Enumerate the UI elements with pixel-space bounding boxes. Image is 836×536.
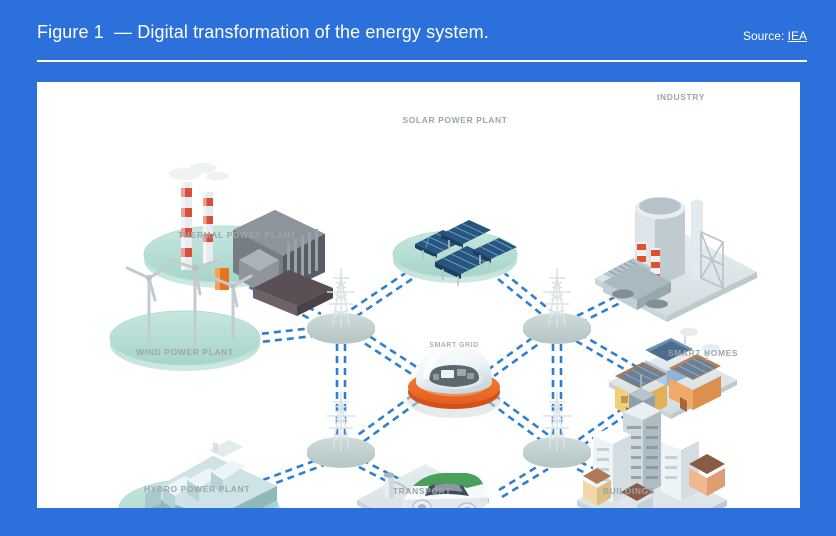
smart-grid-illustration xyxy=(407,346,501,418)
source-link-iea[interactable]: IEA xyxy=(788,29,807,43)
title-dash: — xyxy=(114,22,132,42)
label-solar-power-plant: SOLAR POWER PLANT xyxy=(402,115,507,125)
label-industry: INDUSTRY xyxy=(657,92,705,102)
source-label: Source: xyxy=(743,29,784,43)
label-hydro-power-plant: HYDRO POWER PLANT xyxy=(144,484,250,494)
title-text: Digital transformation of the energy sys… xyxy=(137,22,489,42)
highrise-white-2 xyxy=(661,432,699,501)
figure-canvas: THERMAL POWER PLANT SOLAR POWER PLANT IN… xyxy=(37,82,800,508)
smokestack xyxy=(203,192,213,264)
figure-number: Figure 1 xyxy=(37,22,104,42)
label-transport: TRANSPORT xyxy=(393,486,451,496)
label-buildings: BUILDINGS xyxy=(603,486,655,496)
label-wind-power-plant: WIND POWER PLANT xyxy=(136,347,233,357)
smokestack xyxy=(181,182,192,270)
transmission-tower-top-left-illustration xyxy=(307,268,375,344)
industry-illustration xyxy=(595,196,757,322)
hydro-power-plant-illustration xyxy=(119,440,279,508)
transmission-tower-bottom-right-illustration xyxy=(523,392,591,468)
diagram-svg xyxy=(37,82,800,508)
solar-power-plant-illustration xyxy=(393,220,517,286)
label-smart-grid: SMART GRID xyxy=(429,342,478,349)
energy-system-diagram: THERMAL POWER PLANT SOLAR POWER PLANT IN… xyxy=(37,82,800,508)
label-smart-homes: SMART HOMES xyxy=(668,348,738,358)
figure-container: Figure 1 — Digital transformation of the… xyxy=(0,0,836,536)
transmission-tower-bottom-left-illustration xyxy=(307,392,375,468)
page-title: Figure 1 — Digital transformation of the… xyxy=(37,22,489,43)
figure-header: Figure 1 — Digital transformation of the… xyxy=(37,20,807,62)
transmission-tower-top-right-illustration xyxy=(523,268,591,344)
label-thermal-power-plant: THERMAL POWER PLANT xyxy=(178,230,296,240)
source-attribution: Source: IEA xyxy=(743,29,807,43)
